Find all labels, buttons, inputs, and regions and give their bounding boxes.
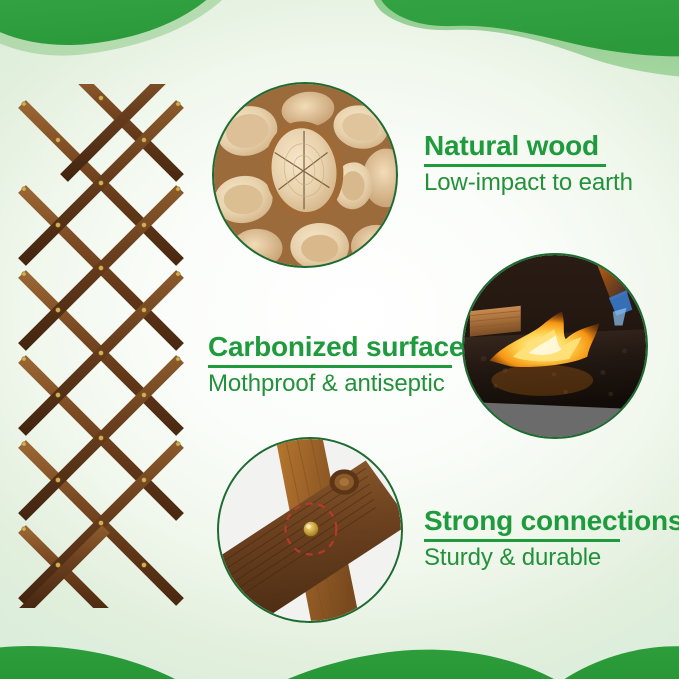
feature-subtitle: Low-impact to earth xyxy=(424,170,633,196)
wave-top-right-dark xyxy=(374,0,679,56)
wave-top-left-dark xyxy=(0,0,226,45)
title-underline xyxy=(208,365,452,367)
wave-bottom-center xyxy=(248,650,590,679)
infographic-canvas: Natural wood Low-impact to earth Carboni… xyxy=(0,0,679,679)
carbonized-surface-photo xyxy=(462,253,648,439)
wave-top-right-light xyxy=(368,0,679,78)
log-ends xyxy=(214,89,396,266)
wave-bottom-left xyxy=(0,646,208,679)
feature-subtitle: Sturdy & durable xyxy=(424,545,679,571)
title-underline xyxy=(424,539,620,541)
strong-connections-photo xyxy=(217,437,403,623)
wood-knot xyxy=(330,469,359,494)
feature-natural-wood: Natural wood Low-impact to earth xyxy=(424,131,633,196)
title-underline xyxy=(424,164,606,166)
feature-title: Natural wood xyxy=(424,131,633,160)
feature-title: Carbonized surface xyxy=(208,332,464,361)
feature-carbonized-surface: Carbonized surface Mothproof & antisepti… xyxy=(208,332,464,397)
wave-bottom-right xyxy=(538,646,679,679)
natural-wood-photo xyxy=(212,82,398,268)
raw-plank-stack xyxy=(470,306,521,337)
brass-rivet xyxy=(302,520,320,538)
feature-subtitle: Mothproof & antiseptic xyxy=(208,371,464,397)
product-trellis xyxy=(6,84,196,608)
wave-top-left-light xyxy=(0,0,240,56)
feature-strong-connections: Strong connections Sturdy & durable xyxy=(424,506,679,571)
feature-title: Strong connections xyxy=(424,506,679,535)
trellis-slats-up xyxy=(22,84,180,608)
